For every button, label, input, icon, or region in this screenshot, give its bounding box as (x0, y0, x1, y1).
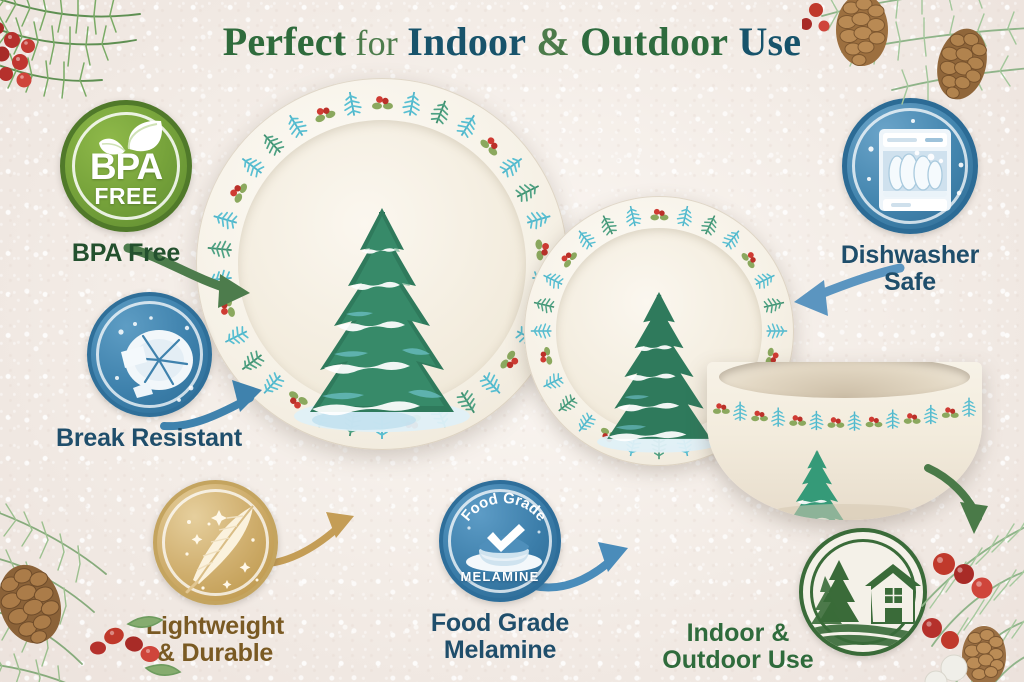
melamine-badge-text: MELAMINE (443, 569, 557, 584)
melamine-label-line2: Melamine (400, 637, 600, 664)
break-resistant-badge[interactable] (87, 292, 212, 417)
indoor-outdoor-label: Indoor & Outdoor Use (643, 620, 833, 674)
title-word-indoor: Indoor (407, 19, 526, 64)
dishwasher-label-line1: Dishwasher (820, 242, 1000, 269)
title-word-for: for (355, 23, 398, 63)
svg-text:Food Grade: Food Grade (458, 490, 550, 525)
bowl-check-icon: Food Grade (443, 484, 561, 602)
infographic-canvas: Perfect for Indoor & Outdoor Use (0, 0, 1024, 682)
title-word-amp: & (536, 19, 570, 64)
food-grade-melamine-badge[interactable]: Food Grade MELAMINE (439, 480, 561, 602)
bpa-free-label: BPA Free (52, 240, 200, 267)
bpa-badge-bottom-text: FREE (65, 183, 187, 210)
cracked-plate-icon (91, 296, 212, 417)
pine-berries-bottom-right (836, 506, 1024, 682)
break-resistant-label: Break Resistant (44, 425, 254, 452)
pinecone-bl (0, 557, 71, 652)
food-grade-arc-text: Food Grade (458, 490, 550, 525)
dishwasher-label-line2: Safe (820, 269, 1000, 296)
product-cereal-bowl (707, 362, 982, 520)
feature-food-grade-melamine[interactable]: Food Grade MELAMINE Food Grade Melamine (400, 480, 600, 664)
indoor-outdoor-label-line1: Indoor & (643, 620, 833, 647)
title-word-perfect: Perfect (223, 19, 347, 64)
title-word-use: Use (738, 19, 801, 64)
pinecone-1 (836, 0, 888, 66)
pinecone-branch-top-right (802, 0, 1024, 146)
indoor-outdoor-label-line2: Outdoor Use (643, 647, 833, 674)
melamine-label-line1: Food Grade (400, 610, 600, 637)
pine-branch-berries-top-left (0, 0, 220, 158)
bowl-pattern (707, 362, 982, 520)
feature-break-resistant[interactable]: Break Resistant (44, 292, 254, 452)
pinecone-branch-bottom-left (0, 478, 196, 682)
title-word-outdoor: Outdoor (580, 19, 728, 64)
